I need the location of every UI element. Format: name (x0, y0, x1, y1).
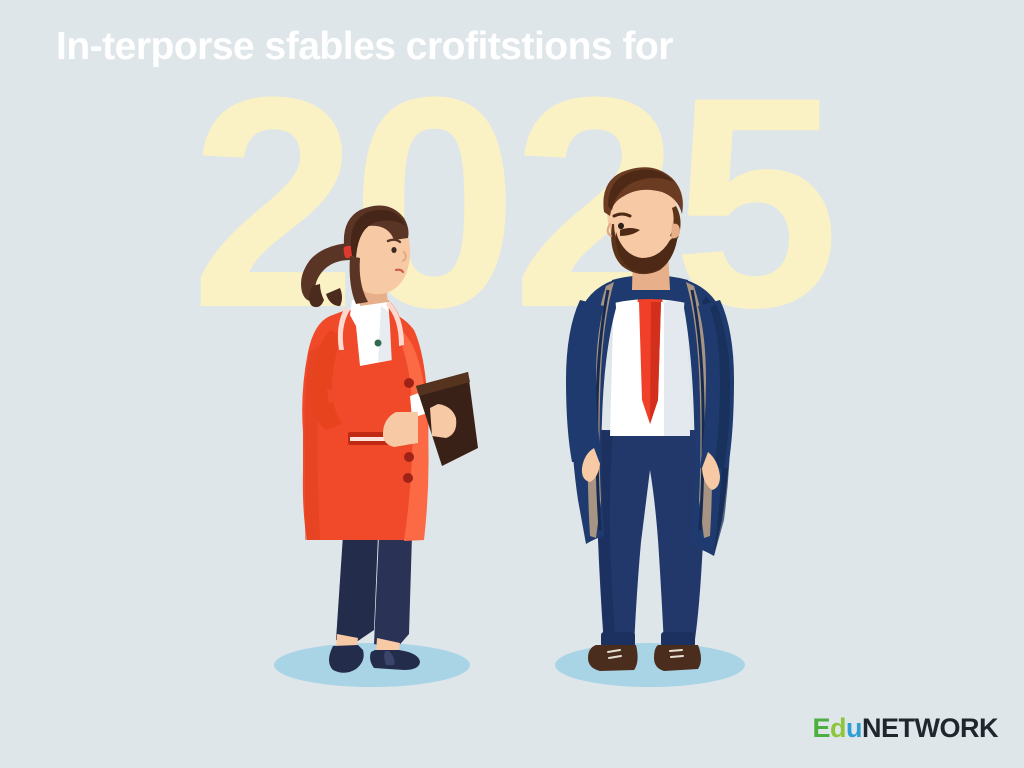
woman-ponytail-tail (326, 288, 342, 306)
woman-leg-front (374, 535, 412, 649)
woman-collar-dot (375, 340, 382, 347)
woman-coat-button-1 (404, 378, 414, 388)
ground-shadow-man (555, 643, 745, 687)
people-illustration (0, 0, 1024, 768)
woman-coat-button-3 (403, 473, 413, 483)
woman-eye (391, 247, 396, 253)
logo-letter-e: E (813, 713, 831, 743)
logo-letter-d: d (830, 713, 846, 743)
logo-word-network: NETWORK (862, 713, 998, 743)
woman-coat-button-2 (404, 452, 414, 462)
logo-letter-u: u (846, 713, 862, 743)
page-title: In-terporse sfables crofitstions for (56, 24, 956, 71)
woman-ponytail (301, 243, 350, 301)
brand-logo[interactable]: EduNETWORK (813, 713, 999, 744)
businesswoman-figure (301, 206, 478, 673)
man-cuff-right (661, 632, 695, 647)
woman-leg-back (336, 535, 378, 645)
businessman-figure (566, 167, 734, 671)
man-ear (671, 224, 680, 239)
man-shoe-right (654, 645, 701, 671)
ground-shadow-woman (274, 643, 470, 687)
man-cuff-left (601, 632, 635, 647)
banner-canvas: 2025 (0, 0, 1024, 768)
man-eye (618, 223, 624, 229)
